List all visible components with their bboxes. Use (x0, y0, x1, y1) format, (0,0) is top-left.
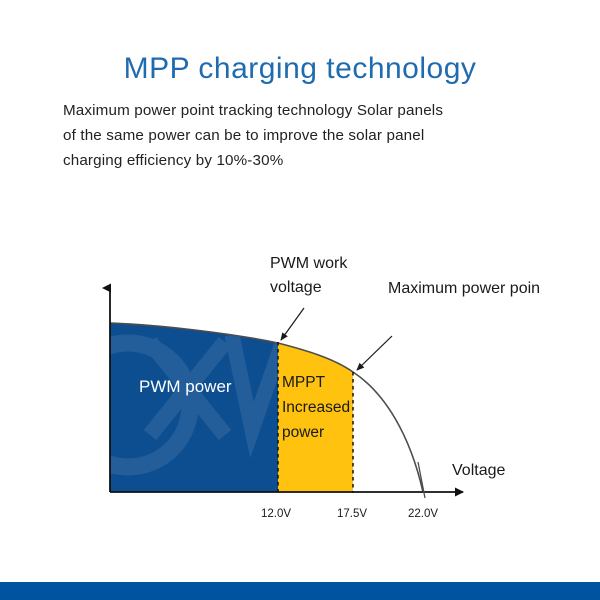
tick-label-22v: 22.0V (400, 508, 446, 520)
tick-label-17v: 17.5V (329, 508, 375, 520)
page-title: MPP charging technology (0, 52, 600, 86)
pwm-work-voltage-label: PWM work voltage (270, 252, 380, 300)
voltage-axis-label: Voltage (452, 462, 505, 480)
paragraph-line-1: Maximum power point tracking technology … (63, 98, 548, 123)
iv-curve-chart: PWM work voltage Maximum power poin Volt… (0, 230, 600, 540)
paragraph-line-2: of the same power can be to improve the … (63, 123, 548, 148)
tick-label-12v: 12.0V (253, 508, 299, 520)
maximum-power-point-label: Maximum power poin (388, 280, 540, 298)
paragraph-line-3: charging efficiency by 10%-30% (63, 148, 548, 173)
intro-paragraph: Maximum power point tracking technology … (63, 98, 548, 173)
footer-accent-bar (0, 582, 600, 600)
mpp-callout-line (357, 336, 392, 370)
pwm-voltage-callout-line (281, 308, 304, 340)
pwm-power-region-label: PWM power (139, 377, 232, 397)
page-root: MPP charging technology Maximum power po… (0, 0, 600, 600)
mppt-region-label: MPPT Increased power (282, 370, 354, 445)
pwm-power-region (66, 323, 285, 492)
